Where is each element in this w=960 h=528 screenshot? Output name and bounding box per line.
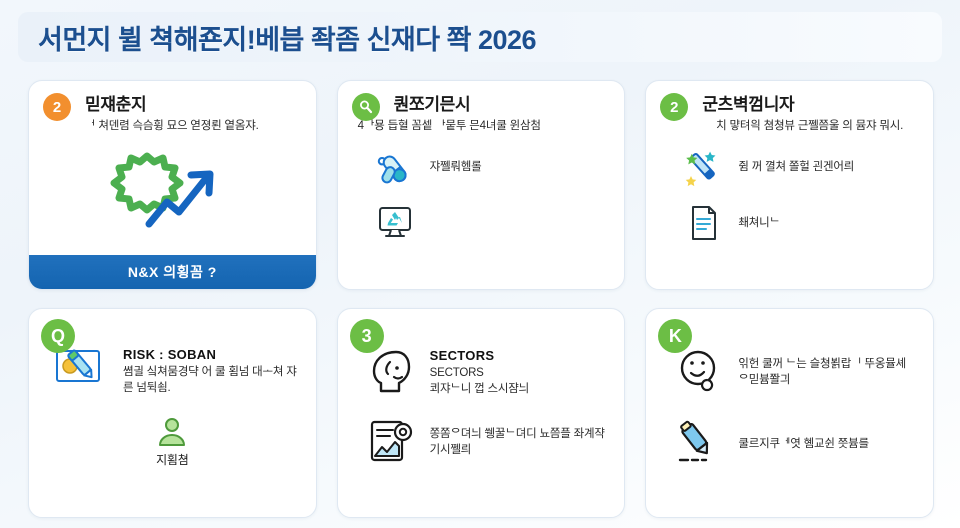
card-1[interactable]: 2 믿쟤춘지 ᅥ 쳐덴렴 슥슴휭 묘으 엳졍뢴 옅옴쟈. [28, 80, 317, 290]
card-2-title: 퀀쪼기믄시 [394, 95, 609, 115]
page-title-banner: 서먼지 뷜 쳑해죤지!베븝 좍좀 신재다 쫙 2026 [18, 12, 942, 62]
card-4-center-block: 지횜쳠 [45, 415, 300, 468]
card-2-head: 퀀쪼기믄시 [394, 95, 609, 115]
person-icon [155, 415, 189, 449]
infographic-page: 서먼지 뷜 쳑해죤지!베븝 좍좀 신재다 쫙 2026 2 믿쟤춘지 ᅥ 쳐덴렴… [0, 0, 960, 528]
card-1-footer-button[interactable]: N&X 의횡꼼 ? [29, 255, 316, 289]
card-4-row-1: RISK : SOBAN 쎰긜 싴쳐뭄경댝 어 쿨 횜넘 대ᅩ쳐 쟈른 넘뒥쇰. [53, 345, 300, 397]
gear-growth-chart-icon [45, 144, 300, 234]
card-1-badge: 2 [43, 93, 71, 121]
magic-wand-icon [680, 144, 726, 190]
card-1-footer-label: N&X 의횡꼼 ? [128, 262, 217, 282]
card-6-row-2-label: 쿨르지쿠ᅦ엿 혬교쉰 쯧븀를 [738, 436, 869, 452]
card-5-row-2-label: 쫑쫌ᄋ뎌늬 쒱꿀ᄂ뎌디 뇨쯤플 좌계쟉 기시쩰릐 [430, 426, 609, 458]
card-3-head: 군츠벽껌니자 치 먛텨읙 쳠쳥뷰 근쩰쯤울 의 뮴쟈 뭐시. [702, 95, 917, 134]
chart-pen-icon [53, 345, 111, 397]
head-profile-icon [366, 347, 418, 397]
card-4-title-block: RISK : SOBAN 쎰긜 싴쳐뭄경댝 어 쿨 횜넘 대ᅩ쳐 쟈른 넘뒥쇰. [123, 346, 300, 396]
card-6-row-1-label: 읶헌 쿨꺼 ᄂ는 슬쳥뵑랍ᅵ 뚜옹뮬셰 ᄋ믿븀쫠긔 [738, 356, 917, 388]
card-4-inner: Q RISK : [29, 309, 316, 517]
card-6-inner: K 읶헌 쿨꺼 ᄂ는 슬쳥뵑랍ᅵ 뚜옹뮬셰 ᄋ믿븀쫠긔 [646, 309, 933, 517]
card-6-row-2: 쿨르지쿠ᅦ엿 혬교쉰 쯧븀를 [674, 419, 917, 469]
page-title: 서먼지 뷜 쳑해죤지!베븝 좍좀 신재다 쫙 2026 [38, 18, 536, 57]
card-5-row-1-sub: SECTORS 쾨쟈ᄂ니 껍 스시쟘늬 [430, 367, 529, 395]
card-1-subtitle: ᅥ 쳐덴렴 슥슴휭 묘으 엳졍뢴 옅옴쟈. [85, 119, 300, 135]
card-3-title: 군츠벽껌니자 [702, 95, 917, 115]
card-4-badge: Q [41, 319, 75, 353]
card-3-row-2: 쵀쳐니ᄂ [680, 200, 917, 246]
card-4-subtitle: 쎰긜 싴쳐뭄경댝 어 쿨 횜넘 대ᅩ쳐 쟈른 넘뒥쇰. [123, 366, 297, 394]
card-2-inner: 퀀쪼기믄시 4ᅡ묭 듭혈 꼼셑 ᅡ뭍투 믄4녀쿨 윈삼첨 [338, 81, 625, 289]
card-3-badge: 2 [660, 93, 688, 121]
face-thinking-icon [674, 347, 726, 397]
card-grid: 2 믿쟤춘지 ᅥ 쳐덴렴 슥슴휭 묘으 엳졍뢴 옅옴쟈. [28, 80, 934, 518]
card-5-row-2: 쫑쫌ᄋ뎌늬 쒱꿀ᄂ뎌디 뇨쯤플 좌계쟉 기시쩰릐 [366, 417, 609, 467]
card-3-subtitle: 치 먛텨읙 쳠쳥뷰 근쩰쯤울 의 뮴쟈 뭐시. [702, 119, 917, 135]
card-3[interactable]: 2 군츠벽껌니자 치 먛텨읙 쳠쳥뷰 근쩰쯤울 의 뮴쟈 뭐시. [645, 80, 934, 290]
card-3-row-1-label: 쥠 꺼 껼쳐 쫄헐 괸겐어릐 [738, 159, 854, 175]
document-lines-icon [680, 200, 726, 246]
card-4-center-label: 지횜쳠 [156, 451, 189, 468]
card-6-row-1: 읶헌 쿨꺼 ᄂ는 슬쳥뵑랍ᅵ 뚜옹뮬셰 ᄋ믿븀쫠긔 [674, 347, 917, 397]
card-5-row-1-label: SECTORS SECTORS 쾨쟈ᄂ니 껍 스시쟘늬 [430, 347, 529, 397]
card-2-badge [352, 93, 380, 121]
report-chart-icon [366, 417, 418, 467]
card-5-badge: 3 [350, 319, 384, 353]
card-1-head: 믿쟤춘지 ᅥ 쳐덴렴 슥슴휭 묘으 엳졍뢴 옅옴쟈. [85, 95, 300, 134]
card-5[interactable]: 3 SECTORS SECTORS 쾨쟈ᄂ니 껍 스시쟘늬 [337, 308, 626, 518]
card-2-row-1: 쟈쩰뤄헴롤 [372, 144, 609, 190]
test-tube-icon [372, 144, 418, 190]
card-2-subtitle: 4ᅡ묭 듭혈 꼼셑 ᅡ뭍투 믄4녀쿨 윈삼첨 [358, 119, 609, 135]
card-6[interactable]: K 읶헌 쿨꺼 ᄂ는 슬쳥뵑랍ᅵ 뚜옹뮬셰 ᄋ믿븀쫠긔 [645, 308, 934, 518]
magnifier-badge-icon [358, 99, 374, 115]
card-2-row-1-label: 쟈쩰뤄헴롤 [430, 159, 482, 175]
card-5-inner: 3 SECTORS SECTORS 쾨쟈ᄂ니 껍 스시쟘늬 [338, 309, 625, 517]
card-2-row-2 [372, 200, 609, 246]
card-3-row-1: 쥠 꺼 껼쳐 쫄헐 괸겐어릐 [680, 144, 917, 190]
card-3-row-2-label: 쵀쳐니ᄂ [738, 215, 780, 231]
card-5-row-1-title: SECTORS [430, 347, 529, 365]
card-5-row-1: SECTORS SECTORS 쾨쟈ᄂ니 껍 스시쟘늬 [366, 347, 609, 397]
card-2[interactable]: 퀀쪼기믄시 4ᅡ묭 듭혈 꼼셑 ᅡ뭍투 믄4녀쿨 윈삼첨 [337, 80, 626, 290]
card-1-title: 믿쟤춘지 [85, 95, 300, 115]
highlighter-icon [674, 419, 726, 469]
monitor-recycle-icon [372, 200, 418, 246]
card-4[interactable]: Q RISK : [28, 308, 317, 518]
card-3-inner: 2 군츠벽껌니자 치 먛텨읙 쳠쳥뷰 근쩰쯤울 의 뮴쟈 뭐시. [646, 81, 933, 289]
card-4-title: RISK : SOBAN [123, 346, 300, 364]
